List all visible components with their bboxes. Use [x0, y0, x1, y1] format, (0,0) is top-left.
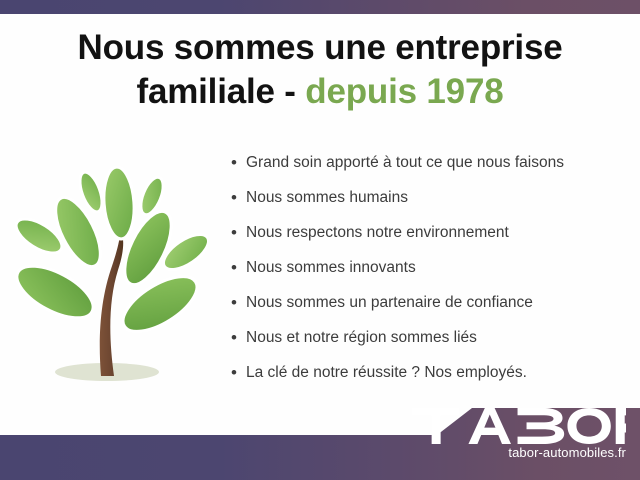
- list-bullet-icon: •: [231, 327, 246, 349]
- footer-bar: tabor-automobiles.fr: [0, 400, 640, 480]
- list-bullet-icon: •: [231, 152, 246, 174]
- list-item: • Nous respectons notre environnement: [231, 222, 631, 257]
- list-bullet-icon: •: [231, 222, 246, 244]
- list-item: • Grand soin apporté à tout ce que nous …: [231, 152, 631, 187]
- top-accent-bar: [0, 0, 640, 14]
- slide-canvas: Nous sommes une entreprise familiale - d…: [0, 0, 640, 480]
- tree-trunk: [100, 226, 123, 376]
- tabor-wordmark-icon: [412, 408, 626, 444]
- list-item: • Nous sommes un partenaire de confiance: [231, 292, 631, 327]
- tree-illustration: [8, 148, 208, 396]
- value-proposition-list: • Grand soin apporté à tout ce que nous …: [231, 152, 631, 397]
- list-item-label: Nous sommes humains: [246, 187, 408, 209]
- list-item-label: Nous sommes innovants: [246, 257, 416, 279]
- website-url[interactable]: tabor-automobiles.fr: [396, 445, 626, 461]
- page-title-line-1: Nous sommes une entreprise: [0, 26, 640, 70]
- list-item: • Nous et notre région sommes liés: [231, 327, 631, 362]
- list-item: • Nous sommes humains: [231, 187, 631, 222]
- list-item: • Nous sommes innovants: [231, 257, 631, 292]
- list-item-label: Nous et notre région sommes liés: [246, 327, 477, 349]
- list-item-label: Nous sommes un partenaire de confiance: [246, 292, 533, 314]
- page-title-highlight: depuis 1978: [305, 72, 503, 111]
- list-bullet-icon: •: [231, 187, 246, 209]
- list-item: • La clé de notre réussite ? Nos employé…: [231, 362, 631, 397]
- list-item-label: Nous respectons notre environnement: [246, 222, 509, 244]
- page-title-line-2-main: familiale -: [137, 72, 306, 111]
- list-bullet-icon: •: [231, 362, 246, 384]
- brand-logo[interactable]: tabor-automobiles.fr: [396, 408, 626, 474]
- page-title: Nous sommes une entreprise familiale - d…: [0, 26, 640, 114]
- list-bullet-icon: •: [231, 292, 246, 314]
- list-bullet-icon: •: [231, 257, 246, 279]
- list-item-label: La clé de notre réussite ? Nos employés.: [246, 362, 527, 384]
- list-item-label: Grand soin apporté à tout ce que nous fa…: [246, 152, 564, 174]
- page-title-line-2: familiale - depuis 1978: [0, 70, 640, 114]
